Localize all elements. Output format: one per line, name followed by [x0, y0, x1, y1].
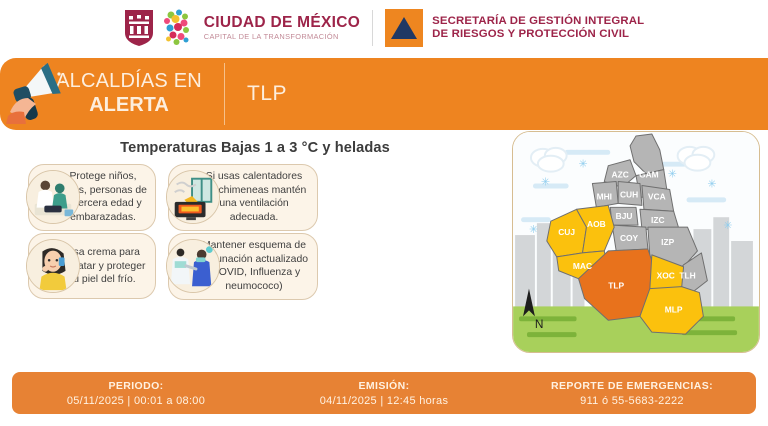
main-content: Temperaturas Bajas 1 a 3 °C y heladas: [0, 130, 768, 373]
borough-label-mlp: MLP: [665, 304, 683, 314]
svg-text:✳: ✳: [541, 176, 550, 189]
borough-label-mhi: MHI: [597, 191, 612, 201]
footer-emergencias: REPORTE DE EMERGENCIAS: 911 ó 55-5683-22…: [508, 380, 756, 407]
svg-text:✳: ✳: [529, 223, 538, 236]
footer-periodo-label: PERIODO:: [12, 380, 260, 392]
borough-label-mac: MAC: [573, 261, 592, 271]
recommendation-card: Usa crema para hidratar y proteger tu pi…: [28, 233, 156, 300]
footer-emision-label: EMISIÓN:: [260, 380, 508, 392]
borough-label-cuh: CUH: [620, 189, 638, 199]
banner-separator: [224, 63, 225, 125]
svg-text:✳: ✳: [707, 177, 716, 190]
banner-alert-code: TLP: [247, 82, 287, 106]
svg-text:✳: ✳: [668, 168, 677, 181]
footer-periodo: PERIODO: 05/11/2025 | 00:01 a 08:00: [12, 380, 260, 407]
cdmx-subtitle: CAPITAL DE LA TRANSFORMACIÓN: [204, 33, 360, 41]
alert-banner: ALCALDÍAS EN ALERTA TLP: [0, 58, 768, 130]
cdmx-wordmark: CIUDAD DE MÉXICO CAPITAL DE LA TRANSFORM…: [204, 15, 360, 40]
footer-emergencias-value[interactable]: 911 ó 55-5683-2222: [508, 395, 756, 407]
header-divider: [372, 10, 373, 46]
proteccion-civil-triangle-icon: [385, 9, 423, 47]
borough-label-coy: COY: [620, 233, 639, 243]
footer-emision-value: 04/11/2025 | 12:45 horas: [260, 395, 508, 407]
borough-label-tlp: TLP: [608, 281, 624, 291]
borough-label-xoc: XOC: [657, 271, 675, 281]
recommendations-list: Protege niños, niñas, personas de la ter…: [0, 164, 500, 302]
cdmx-emblem-icon: [160, 8, 194, 48]
svg-text:✳: ✳: [579, 158, 588, 171]
cdmx-title: CIUDAD DE MÉXICO: [204, 15, 360, 31]
megaphone-icon: [2, 54, 76, 128]
footer-bar: PERIODO: 05/11/2025 | 00:01 a 08:00 EMIS…: [12, 372, 756, 414]
borough-label-bju: BJU: [616, 211, 633, 221]
borough-label-cuj: CUJ: [558, 227, 575, 237]
secretaria-brand: SECRETARÍA DE GESTIÓN INTEGRAL DE RIESGO…: [385, 9, 644, 47]
page-header: CIUDAD DE MÉXICO CAPITAL DE LA TRANSFORM…: [0, 0, 768, 56]
borough-label-gam: GAM: [639, 170, 659, 180]
footer-emergencias-label: REPORTE DE EMERGENCIAS:: [508, 380, 756, 392]
borough-label-azc: AZC: [612, 170, 629, 180]
footer-periodo-value: 05/11/2025 | 00:01 a 08:00: [12, 395, 260, 407]
alert-map[interactable]: ✳✳ ✳✳ ✳✳: [512, 131, 760, 353]
secretaria-line-1: SECRETARÍA DE GESTIÓN INTEGRAL: [432, 15, 644, 28]
borough-label-vca: VCA: [648, 191, 666, 201]
borough-label-aob: AOB: [587, 219, 606, 229]
compass-north-label: N: [535, 317, 544, 331]
borough-label-izc: IZC: [651, 215, 665, 225]
secretaria-wordmark: SECRETARÍA DE GESTIÓN INTEGRAL DE RIESGO…: [432, 15, 644, 42]
cdmx-shield-icon: [124, 9, 154, 47]
secretaria-line-2: DE RIESGOS Y PROTECCIÓN CIVIL: [432, 28, 644, 41]
cdmx-brand: CIUDAD DE MÉXICO CAPITAL DE LA TRANSFORM…: [124, 8, 360, 48]
map-svg: ✳✳ ✳✳ ✳✳: [513, 132, 759, 352]
recommendation-card: Mantener esquema de vacunación actualiza…: [168, 233, 318, 300]
borough-label-tlh: TLH: [679, 271, 695, 281]
borough-label-izp: IZP: [661, 237, 674, 247]
recommendation-card: Si usas calentadores y/o chimeneas manté…: [168, 164, 318, 231]
svg-text:✳: ✳: [723, 219, 732, 232]
footer-emision: EMISIÓN: 04/11/2025 | 12:45 horas: [260, 380, 508, 407]
recommendation-card: Protege niños, niñas, personas de la ter…: [28, 164, 156, 231]
